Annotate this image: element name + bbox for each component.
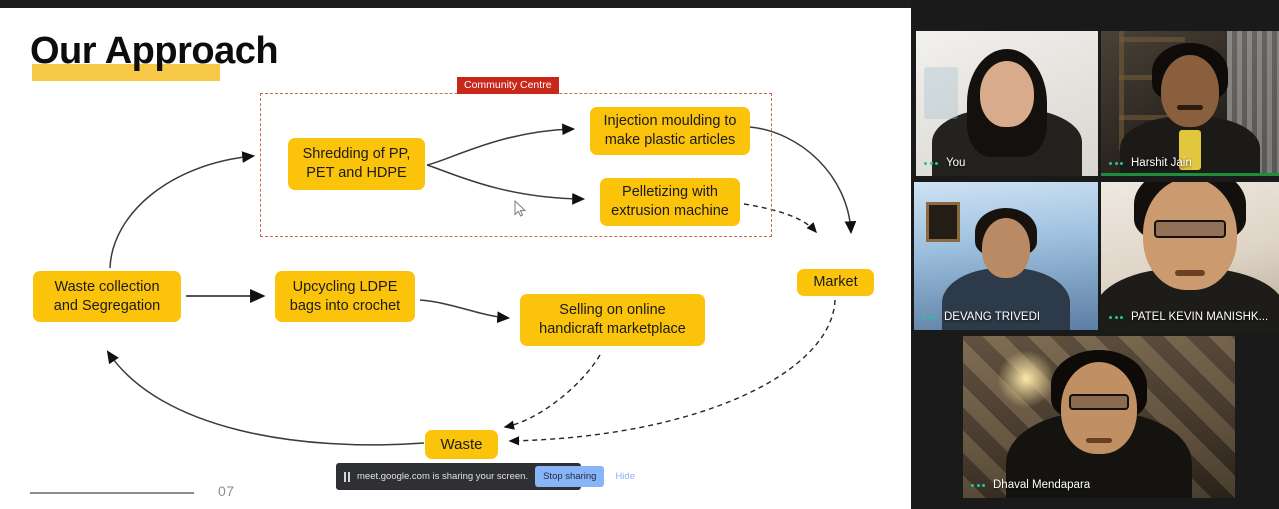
node-waste[interactable]: Waste (425, 430, 498, 459)
hide-button[interactable]: Hide (611, 467, 639, 486)
more-options-icon[interactable] (1109, 316, 1123, 319)
participant-name: Dhaval Mendapara (993, 479, 1090, 491)
participant-name-chip: You (924, 157, 965, 169)
page-number: 07 (218, 483, 235, 499)
glasses-icon (1069, 394, 1129, 410)
community-centre-label: Community Centre (457, 77, 559, 94)
video-feed (914, 182, 1098, 330)
node-selling-online[interactable]: Selling on online handicraft marketplace (520, 294, 705, 346)
app-root: Our Approach (0, 0, 1279, 509)
participant-name-chip: PATEL KEVIN MANISHK... (1109, 311, 1268, 323)
more-options-icon[interactable] (924, 162, 938, 165)
node-shredding[interactable]: Shredding of PP, PET and HDPE (288, 138, 425, 190)
screen-share-bar: meet.google.com is sharing your screen. … (336, 463, 581, 490)
participant-tile-devang-trivedi[interactable]: DEVANG TRIVEDI (914, 182, 1098, 330)
participant-tile-patel-kevin[interactable]: PATEL KEVIN MANISHK... (1101, 182, 1279, 330)
participant-name: DEVANG TRIVEDI (944, 311, 1040, 323)
footer-rule (30, 492, 194, 494)
video-feed (1101, 182, 1279, 330)
video-feed (916, 31, 1098, 176)
participant-tile-dhaval-mendapara[interactable]: Dhaval Mendapara (963, 336, 1235, 498)
participant-tile-harshit-jain[interactable]: Harshit Jain (1101, 31, 1279, 176)
speaking-indicator (1101, 173, 1279, 176)
participant-name: Harshit Jain (1131, 157, 1192, 169)
participant-name-chip: DEVANG TRIVEDI (922, 311, 1040, 323)
more-options-icon[interactable] (1109, 162, 1123, 165)
participant-grid: You Harshit Jain (911, 0, 1279, 509)
more-options-icon[interactable] (971, 484, 985, 487)
node-pelletizing[interactable]: Pelletizing with extrusion machine (600, 178, 740, 226)
more-options-icon[interactable] (922, 316, 936, 319)
stop-sharing-button[interactable]: Stop sharing (535, 466, 604, 487)
share-message: meet.google.com is sharing your screen. (357, 471, 528, 482)
participant-name-chip: Dhaval Mendapara (971, 479, 1090, 491)
shared-screen-slide: Our Approach (0, 0, 911, 509)
node-injection-moulding[interactable]: Injection moulding to make plastic artic… (590, 107, 750, 155)
participant-name: PATEL KEVIN MANISHK... (1131, 311, 1268, 323)
participant-name: You (946, 157, 965, 169)
glasses-icon (1154, 220, 1226, 238)
mouse-cursor-icon (514, 200, 528, 218)
node-waste-collection[interactable]: Waste collection and Segregation (33, 271, 181, 322)
video-feed (963, 336, 1235, 498)
participant-name-chip: Harshit Jain (1109, 157, 1192, 169)
node-market[interactable]: Market (797, 269, 874, 296)
participant-tile-you[interactable]: You (916, 31, 1098, 176)
node-upcycling-ldpe[interactable]: Upcycling LDPE bags into crochet (275, 271, 415, 322)
pause-icon[interactable] (344, 472, 350, 482)
video-feed (1101, 31, 1279, 176)
